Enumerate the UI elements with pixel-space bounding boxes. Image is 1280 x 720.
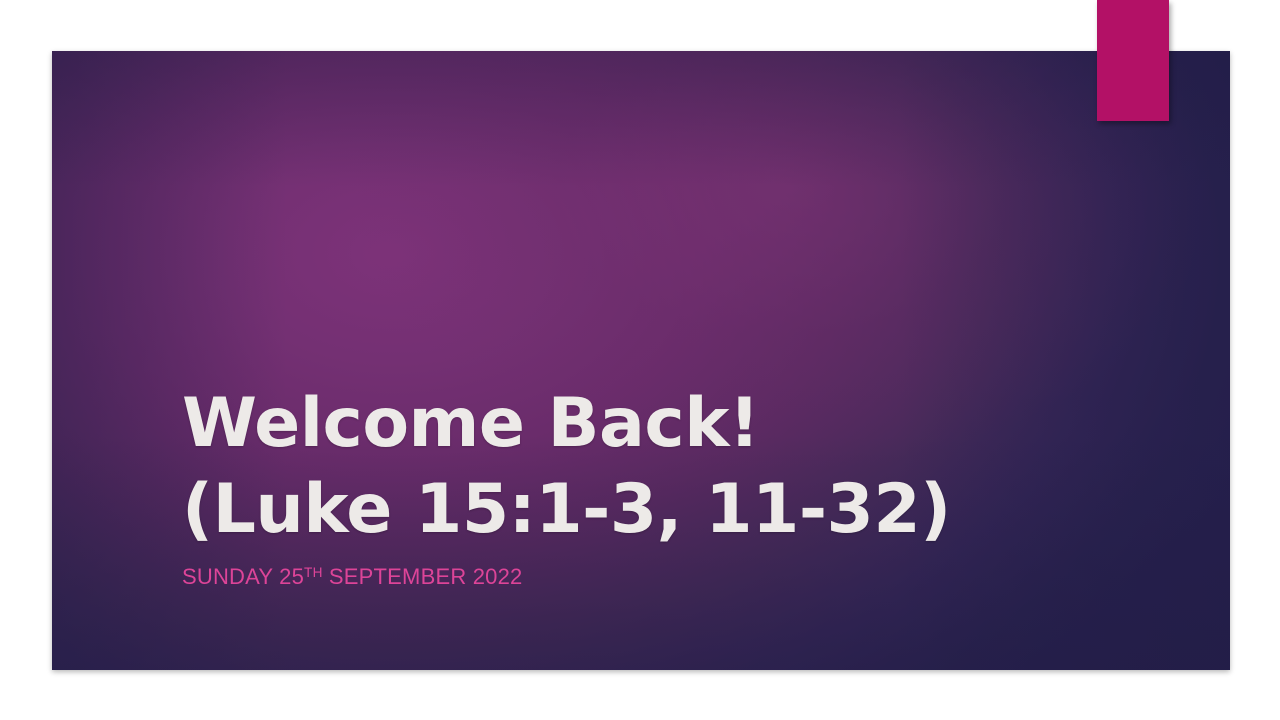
pink-accent-bar [1097, 0, 1169, 121]
slide-canvas: Welcome Back! (Luke 15:1-3, 11-32) SUNDA… [52, 51, 1230, 670]
slide-subtitle: SUNDAY 25TH SEPTEMBER 2022 [182, 553, 1082, 591]
slide-title-line-1: Welcome Back! [182, 381, 1082, 467]
presentation-page: Welcome Back! (Luke 15:1-3, 11-32) SUNDA… [0, 0, 1280, 720]
subtitle-day-date: SUNDAY 25 [182, 564, 304, 589]
subtitle-month-year: SEPTEMBER 2022 [323, 564, 523, 589]
subtitle-ordinal-suffix: TH [304, 565, 323, 580]
slide-title-line-2: (Luke 15:1-3, 11-32) [182, 467, 1082, 553]
title-text-block: Welcome Back! (Luke 15:1-3, 11-32) SUNDA… [182, 381, 1082, 591]
